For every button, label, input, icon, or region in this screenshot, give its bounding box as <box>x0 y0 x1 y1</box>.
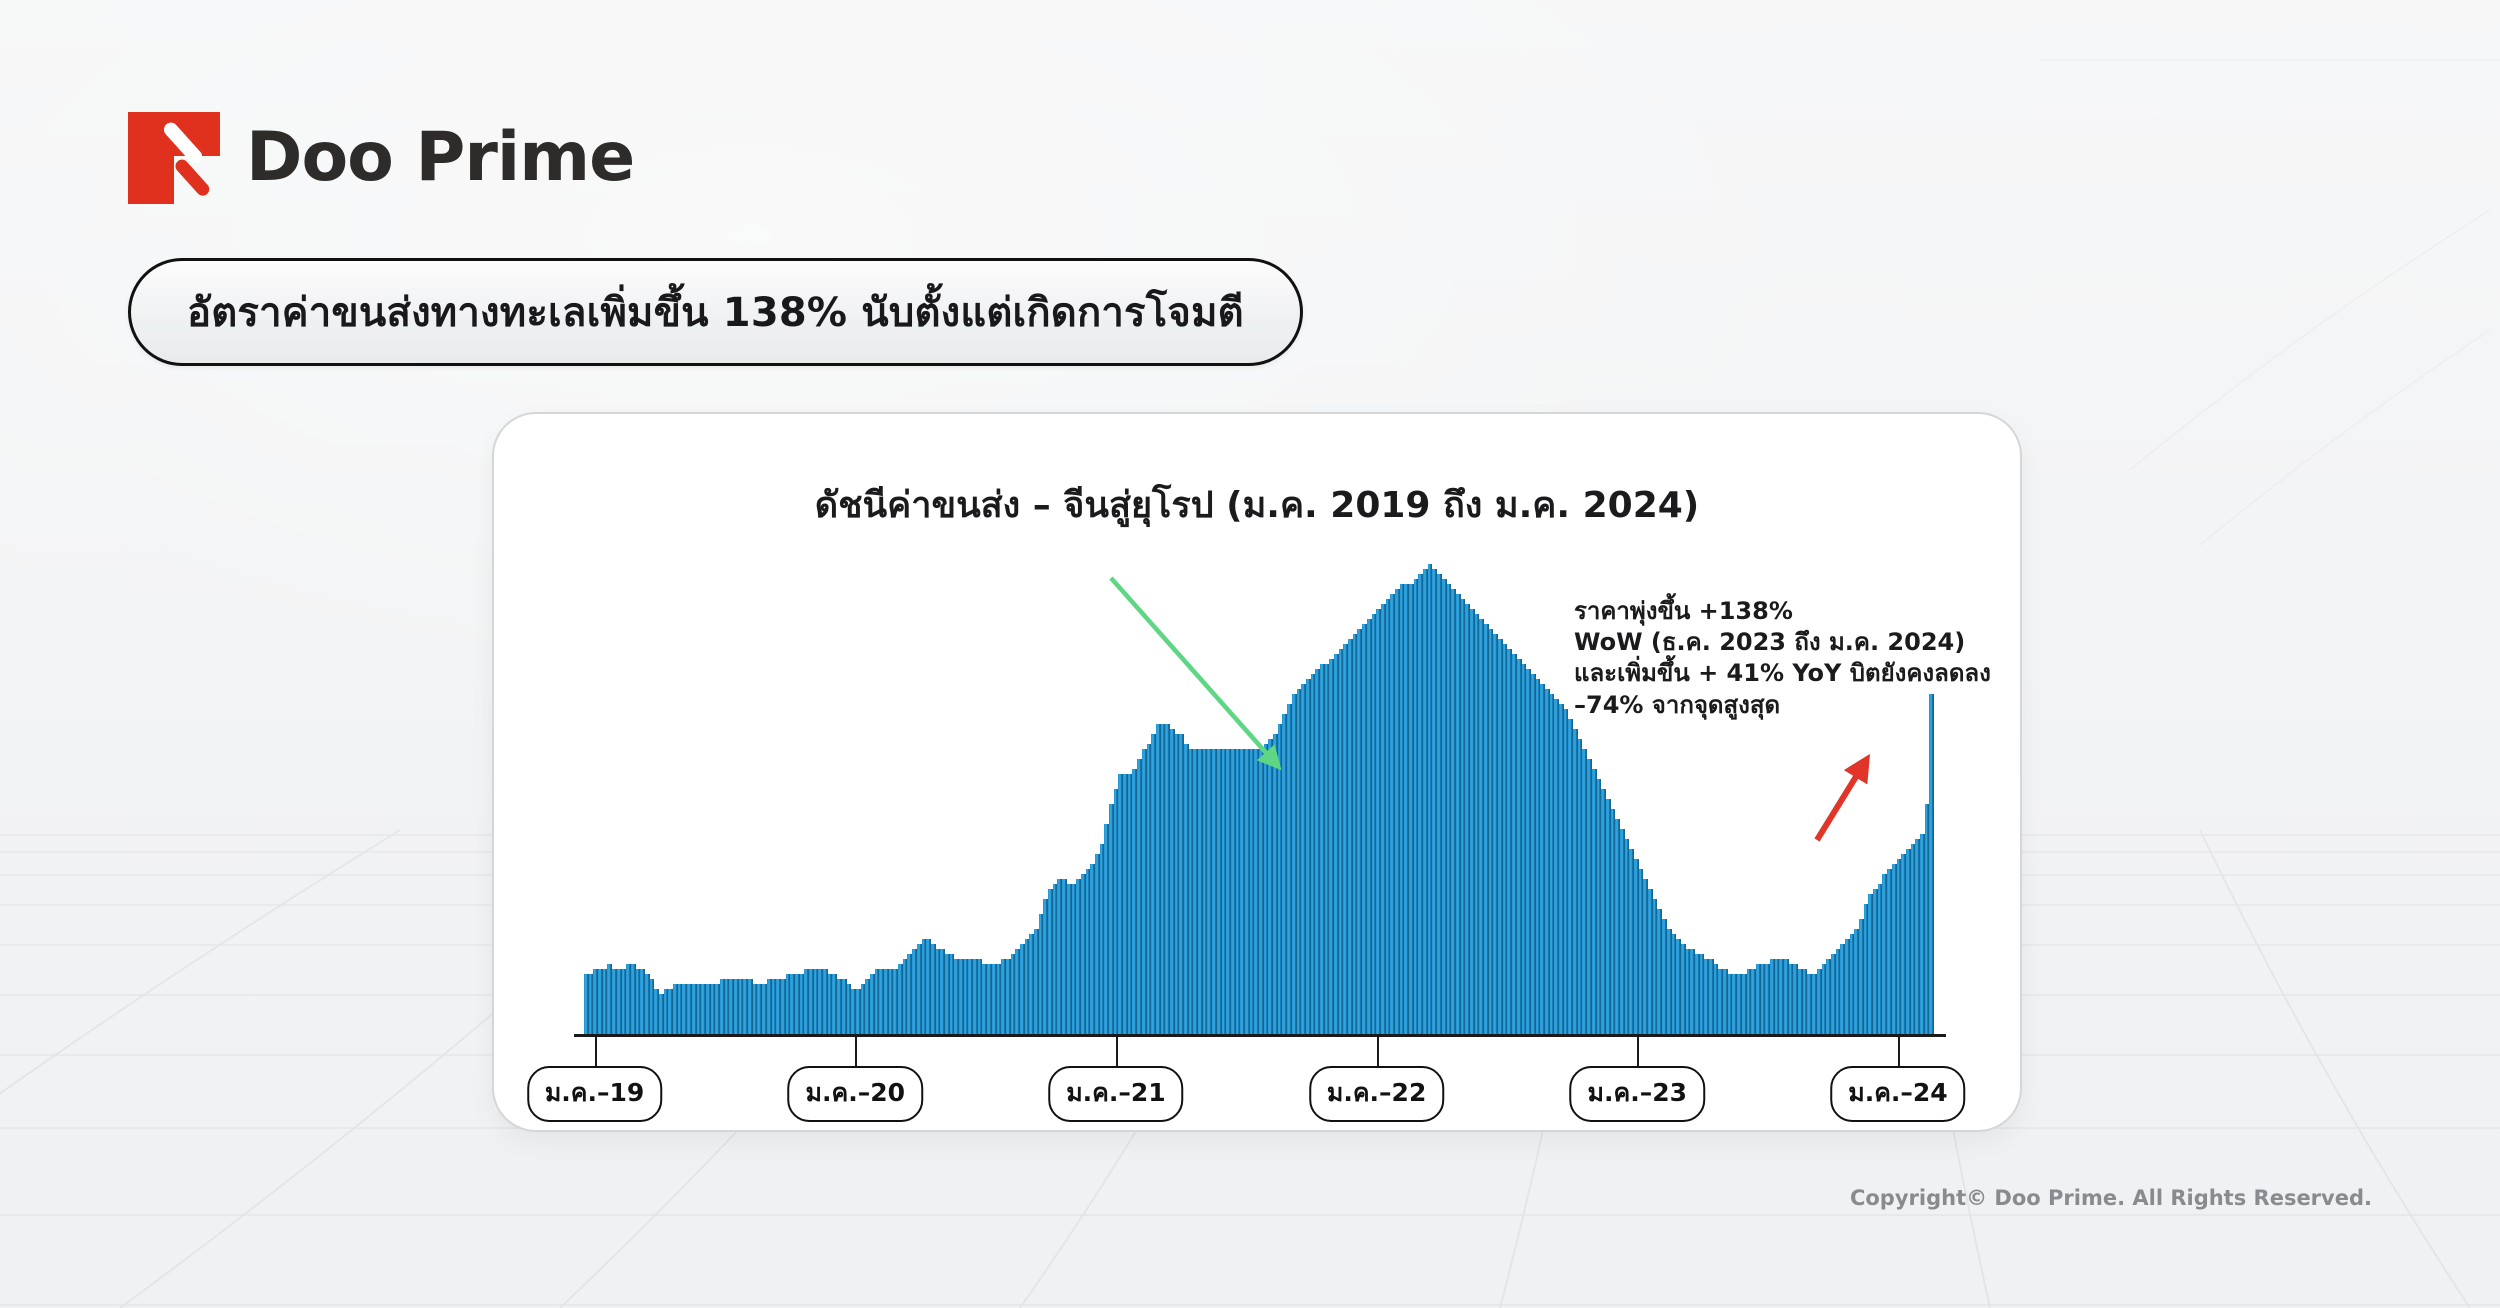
x-axis-tick <box>1116 1036 1118 1066</box>
bar <box>1929 694 1934 1034</box>
x-axis-label-pill: ม.ค.–24 <box>1830 1066 1966 1122</box>
x-axis-label-pill: ม.ค.–19 <box>527 1066 663 1122</box>
x-axis-tick <box>1637 1036 1639 1066</box>
chart-title: ดัชนีค่าขนส่ง – จีนสู่ยุโรป (ม.ค. 2019 ถ… <box>494 476 2020 533</box>
x-axis-label-pill: ม.ค.–20 <box>788 1066 924 1122</box>
x-axis-tick <box>1377 1036 1379 1066</box>
annotation-line-3: และเพิ่มขึ้น + 41% YoY บิตยังคงลดลง <box>1574 658 1994 689</box>
headline-banner: อัตราค่าขนส่งทางทะเลเพิ่มขึ้น 138% นับตั… <box>128 258 1303 366</box>
x-axis-label-pill: ม.ค.–22 <box>1309 1066 1445 1122</box>
copyright-footer: Copyright© Doo Prime. All Rights Reserve… <box>1850 1186 2372 1210</box>
x-axis-label-pill: ม.ค.–21 <box>1048 1066 1184 1122</box>
brand-wordmark: Doo Prime <box>246 124 634 192</box>
annotation-block: ราคาพุ่งขึ้น +138% WoW (ธ.ค. 2023 ถึง ม.… <box>1574 596 1994 721</box>
x-axis-label-pill: ม.ค.–23 <box>1570 1066 1706 1122</box>
headline-text: อัตราค่าขนส่งทางทะเลเพิ่มขึ้น 138% นับตั… <box>187 280 1244 344</box>
x-axis-tick <box>595 1036 597 1066</box>
brand-logo: Doo Prime <box>128 112 634 204</box>
doo-prime-logo-icon <box>128 112 220 204</box>
annotation-line-2: WoW (ธ.ค. 2023 ถึง ม.ค. 2024) <box>1574 627 1994 658</box>
x-axis-tick <box>1898 1036 1900 1066</box>
annotation-line-1: ราคาพุ่งขึ้น +138% <box>1574 596 1994 627</box>
x-axis-tick <box>855 1036 857 1066</box>
x-axis-line <box>574 1034 1946 1037</box>
annotation-line-4: –74% จากจุดสูงสุด <box>1574 690 1994 721</box>
chart-card: ดัชนีค่าขนส่ง – จีนสู่ยุโรป (ม.ค. 2019 ถ… <box>492 412 2022 1132</box>
